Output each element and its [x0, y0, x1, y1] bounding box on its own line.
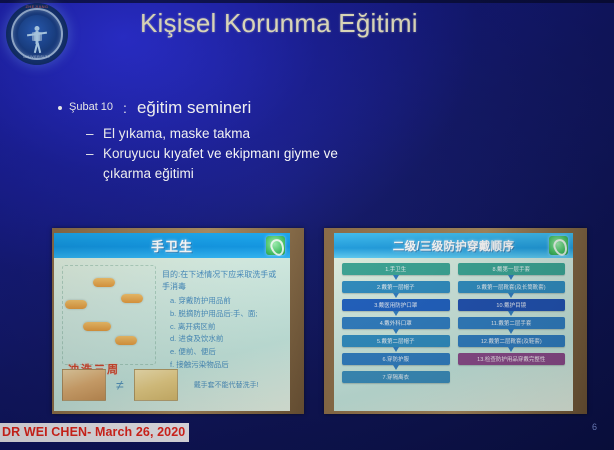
flow-step: 8.戴第一层手套 [458, 263, 566, 275]
hand-photo-thumbnail [62, 369, 106, 401]
flow-arrow-icon [342, 329, 450, 335]
ppe-donning-photo: 二级/三级防护穿戴顺序 1.手卫生 2.戴第一层帽子 3.戴医用防护口罩 4.戴… [324, 228, 587, 414]
projected-screen: 手卫生 冲洗三周 目的:在下述情况下应采取洗手或手消毒 a. 穿戴防护用品前 b… [54, 233, 290, 411]
presentation-slide: ZHEJIANG UNIVERSITY Kişisel Korunma Eğit… [0, 0, 614, 450]
slide-body: Şubat 10 : eğitim semineri – El yıkama, … [58, 98, 478, 184]
flow-arrow-icon [458, 347, 566, 353]
dash-icon: – [86, 125, 96, 143]
bullet-level1: Şubat 10 : eğitim semineri [58, 98, 478, 118]
flowchart-column-left: 1.手卫生 2.戴第一层帽子 3.戴医用防护口罩 4.戴外科口罩 5.戴第二层帽… [342, 263, 450, 395]
hand-wash-diagram [62, 265, 156, 365]
hand-hygiene-photo: 手卫生 冲洗三周 目的:在下述情况下应采取洗手或手消毒 a. 穿戴防护用品前 b… [52, 228, 304, 414]
projected-bullet: d. 进食及饮水前 [162, 333, 284, 346]
sub-bullet-item: – El yıkama, maske takma [86, 125, 478, 143]
projected-footer-note: 戴手套不能代替洗手! [194, 380, 259, 390]
projected-slide-header: 二级/三级防护穿戴顺序 [334, 233, 573, 258]
flow-arrow-icon [342, 311, 450, 317]
flow-step: 12.戴第二层靴套(及鞋套) [458, 335, 566, 347]
flow-step: 6.穿防护服 [342, 353, 450, 365]
sub-bullet-label: çıkarma eğitimi [103, 165, 194, 183]
projected-intro-line: 目的:在下述情况下应采取洗手或手消毒 [162, 269, 284, 292]
author-date-caption: DR WEI CHEN- March 26, 2020 [0, 423, 189, 442]
projected-bullet: e. 便前、便后 [162, 346, 284, 359]
sub-bullet-list: – El yıkama, maske takma – Koruyucu kıya… [86, 125, 478, 182]
projected-bullet: b. 脱摘防护用品后:手、面; [162, 308, 284, 321]
flow-step: 11.戴第二层手套 [458, 317, 566, 329]
not-equal-icon: ≠ [116, 377, 124, 393]
flow-arrow-icon [458, 329, 566, 335]
flow-step: 5.戴第二层帽子 [342, 335, 450, 347]
slide-title: Kişisel Korunma Eğitimi [140, 8, 418, 39]
projected-slide-header: 手卫生 [54, 233, 290, 258]
top-stripe [0, 0, 614, 3]
diagram-step-4 [83, 322, 111, 331]
projected-bullet: c. 离开病区前 [162, 321, 284, 334]
university-logo: ZHEJIANG UNIVERSITY [6, 3, 68, 65]
flow-arrow-icon [342, 347, 450, 353]
flow-arrow-icon [458, 293, 566, 299]
flow-step: 1.手卫生 [342, 263, 450, 275]
bullet-date: Şubat 10 [69, 101, 113, 113]
bullet-main-text: eğitim semineri [137, 98, 251, 118]
projected-slide-title: 二级/三级防护穿戴顺序 [393, 238, 515, 254]
flow-step: 13.检查防护用品穿戴完整性 [458, 353, 566, 365]
sub-bullet-item: – Koruyucu kıyafet ve ekipmanı giyme ve [86, 145, 478, 163]
glove-photo-thumbnail [134, 369, 178, 401]
diagram-step-1 [65, 300, 87, 309]
sub-bullet-label: El yıkama, maske takma [103, 125, 250, 143]
projected-slide-title: 手卫生 [151, 236, 193, 255]
flow-step: 4.戴外科口罩 [342, 317, 450, 329]
diagram-step-5 [115, 336, 137, 345]
flow-step: 7.穿隔离衣 [342, 371, 450, 383]
green-hospital-logo-icon [266, 236, 285, 255]
flow-step: 2.戴第一层帽子 [342, 281, 450, 293]
flow-arrow-icon [342, 293, 450, 299]
projected-footer-row: ≠ 戴手套不能代替洗手! [62, 367, 282, 403]
flow-arrow-icon [342, 275, 450, 281]
projected-bullet: a. 穿戴防护用品前 [162, 295, 284, 308]
diagram-step-2 [93, 278, 115, 287]
flow-step: 9.戴第一层靴套(及长筒靴套) [458, 281, 566, 293]
flow-arrow-icon [342, 365, 450, 371]
green-hospital-logo-icon [549, 236, 568, 255]
flow-step: 10.戴护目镜 [458, 299, 566, 311]
flow-arrow-icon [458, 311, 566, 317]
dash-icon: – [86, 145, 96, 163]
logo-arc-text: UNIVERSITY [6, 55, 68, 59]
projected-bullet-list: 目的:在下述情况下应采取洗手或手消毒 a. 穿戴防护用品前 b. 脱摘防护用品后… [162, 269, 284, 372]
dash-spacer [86, 165, 96, 183]
page-number: 6 [592, 422, 597, 432]
bullet-colon: : [120, 100, 130, 116]
sub-bullet-item: çıkarma eğitimi [86, 165, 478, 183]
bullet-dot-icon [58, 106, 62, 110]
flow-step: 3.戴医用防护口罩 [342, 299, 450, 311]
diagram-step-3 [121, 294, 143, 303]
logo-inner-disc [18, 15, 56, 53]
flow-arrow-icon [458, 275, 566, 281]
ppe-flowchart: 1.手卫生 2.戴第一层帽子 3.戴医用防护口罩 4.戴外科口罩 5.戴第二层帽… [342, 263, 565, 395]
flowchart-column-right: 8.戴第一层手套 9.戴第一层靴套(及长筒靴套) 10.戴护目镜 11.戴第二层… [458, 263, 566, 395]
projected-screen: 二级/三级防护穿戴顺序 1.手卫生 2.戴第一层帽子 3.戴医用防护口罩 4.戴… [334, 233, 573, 411]
sub-bullet-label: Koruyucu kıyafet ve ekipmanı giyme ve [103, 145, 338, 163]
logo-human-figure-icon [32, 26, 42, 52]
